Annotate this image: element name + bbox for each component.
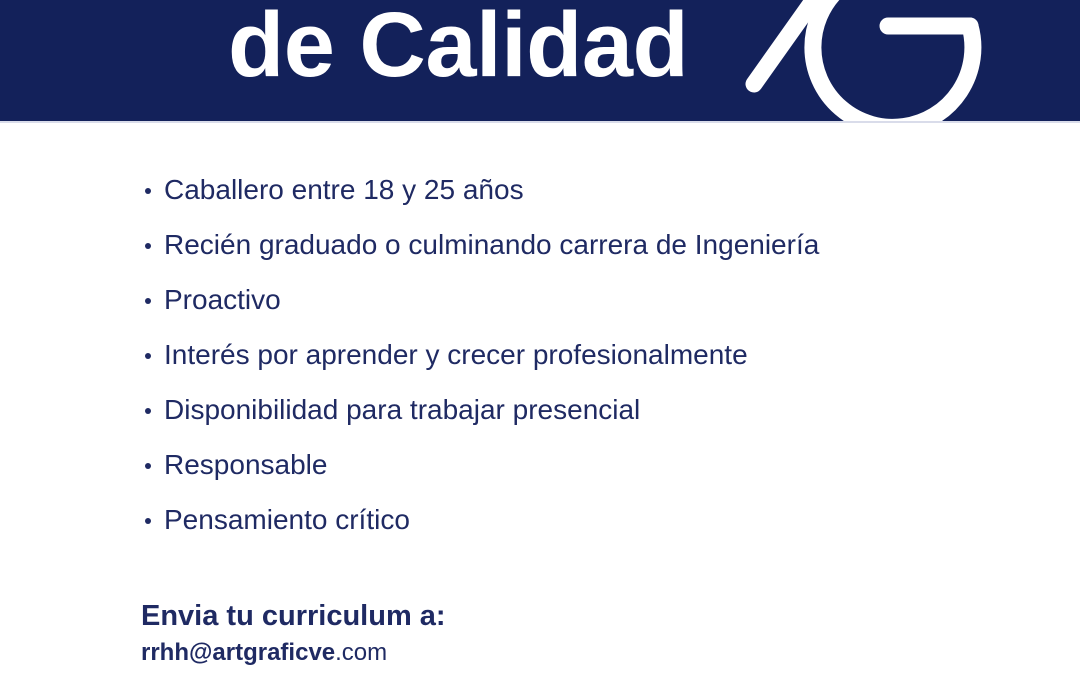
list-item-label: Pensamiento crítico (164, 504, 410, 535)
header-banner: de Calidad (0, 0, 1080, 121)
contact-heading: Envia tu curriculum a: (141, 598, 446, 634)
list-item: Responsable (140, 445, 1000, 500)
list-item-label: Recién graduado o culminando carrera de … (164, 229, 819, 260)
bullet-icon (145, 518, 151, 524)
email-local-part: rrhh@artgraficve (141, 639, 335, 666)
bullet-icon (145, 243, 151, 249)
page-title: de Calidad (228, 0, 688, 104)
bullet-icon (145, 298, 151, 304)
banner-divider (0, 121, 1080, 123)
list-item: Proactivo (140, 280, 1000, 335)
list-item-label: Caballero entre 18 y 25 años (164, 174, 524, 205)
list-item-label: Proactivo (164, 284, 281, 315)
ag-monogram-logo (724, 0, 986, 121)
contact-email[interactable]: rrhh@artgraficve.com (141, 638, 446, 668)
list-item: Caballero entre 18 y 25 años (140, 170, 1000, 225)
bullet-icon (145, 188, 151, 194)
bullet-icon (145, 408, 151, 414)
bullet-icon (145, 353, 151, 359)
contact-block: Envia tu curriculum a: rrhh@artgraficve.… (141, 598, 446, 668)
job-posting-poster: de Calidad Caballero entre 18 y 25 años … (0, 0, 1080, 675)
list-item-label: Interés por aprender y crecer profesiona… (164, 339, 748, 370)
list-item: Recién graduado o culminando carrera de … (140, 225, 1000, 280)
list-item-label: Responsable (164, 449, 327, 480)
email-tld-part: .com (335, 639, 387, 666)
list-item: Pensamiento crítico (140, 500, 1000, 555)
list-item: Disponibilidad para trabajar presencial (140, 390, 1000, 445)
list-item: Interés por aprender y crecer profesiona… (140, 335, 1000, 390)
bullet-icon (145, 463, 151, 469)
list-item-label: Disponibilidad para trabajar presencial (164, 394, 640, 425)
requirements-list: Caballero entre 18 y 25 años Recién grad… (140, 170, 1000, 555)
